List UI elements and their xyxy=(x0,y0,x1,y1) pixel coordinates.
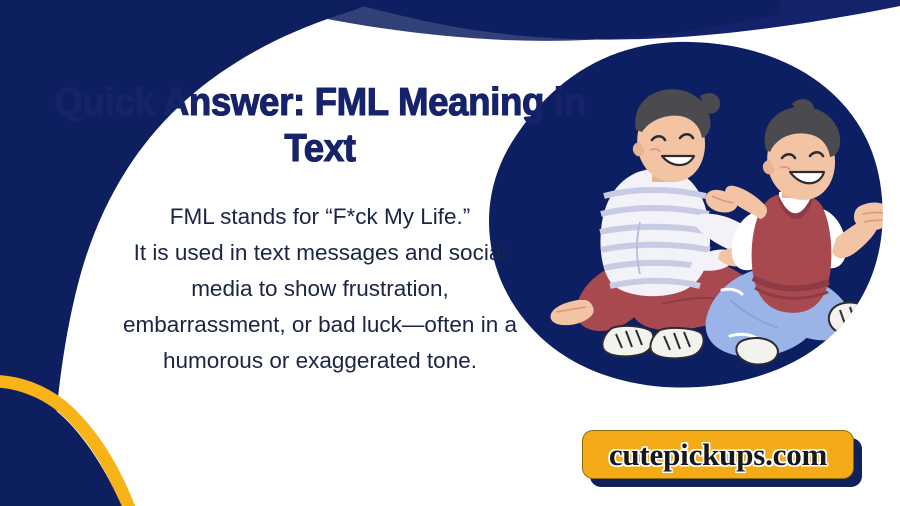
body-copy-block: FML stands for “F*ck My Life.” It is use… xyxy=(40,199,600,379)
site-logo-badge[interactable]: cutepickups.com xyxy=(582,430,854,479)
poster-canvas: Quick Answer: FML Meaning in Text FML st… xyxy=(0,0,900,506)
body-paragraph: FML stands for “F*ck My Life.” It is use… xyxy=(40,199,600,379)
person-left-shoe-left xyxy=(602,326,653,356)
page-title: Quick Answer: FML Meaning in Text xyxy=(47,80,592,172)
logo-badge-plate[interactable]: cutepickups.com xyxy=(582,430,854,479)
headline-block: Quick Answer: FML Meaning in Text xyxy=(30,80,610,172)
person-right-shoe xyxy=(829,303,874,336)
person-right-shoe-tucked xyxy=(736,338,778,364)
person-right-hand-open xyxy=(854,203,891,231)
logo-text: cutepickups.com xyxy=(609,439,827,470)
